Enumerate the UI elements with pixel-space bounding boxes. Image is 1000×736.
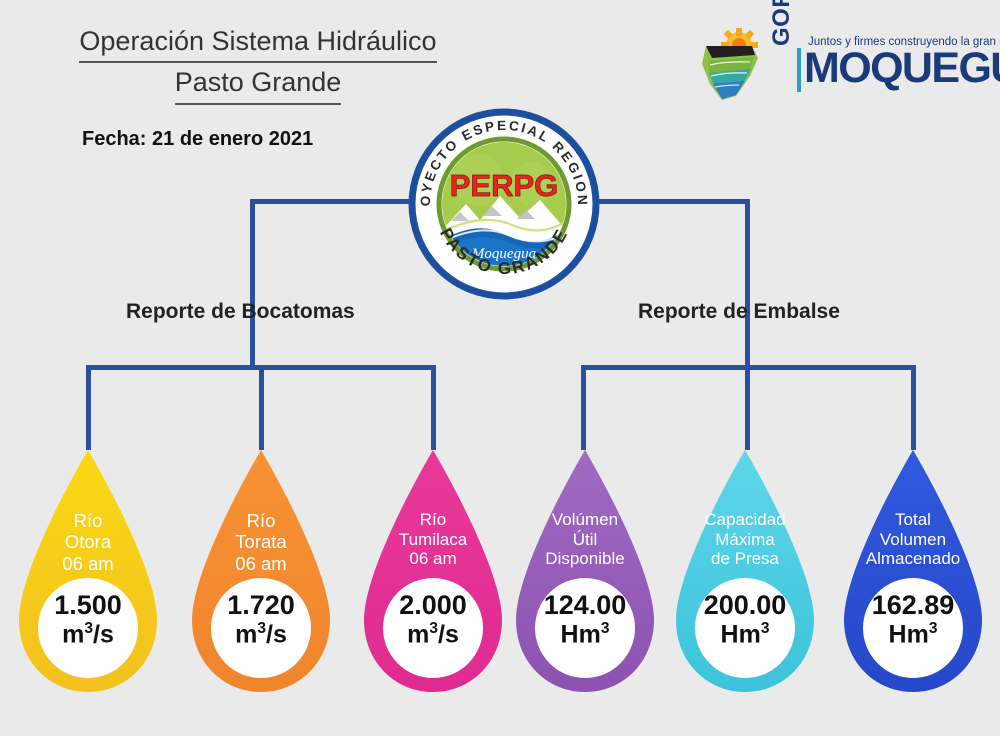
branch-heading-embalse: Reporte de Embalse	[638, 300, 840, 324]
infographic-canvas: Operación Sistema Hidráulico Pasto Grand…	[0, 0, 1000, 736]
connector-drop-4	[581, 365, 586, 450]
seal-acronym: PERPG	[450, 168, 559, 203]
report-date: Fecha: 21 de enero 2021	[82, 128, 313, 151]
title-line-1: Operación Sistema Hidráulico	[79, 22, 436, 63]
connector-left-stem	[250, 199, 255, 369]
connector-drop-2	[259, 365, 264, 450]
page-title: Operación Sistema Hidráulico Pasto Grand…	[48, 22, 468, 105]
droplet-volumen-util-disponible: VolúmenÚtilDisponible124.00Hm3	[510, 448, 660, 696]
droplet-capacidad-maxima-de-presa: CapacidadMáximade Presa200.00Hm3	[670, 448, 820, 696]
droplet-total-volumen-almacenado: TotalVolumenAlmacenado162.89Hm3	[838, 448, 988, 696]
droplet-value-disc-rio-tumilaca	[383, 578, 483, 678]
title-line-2: Pasto Grande	[175, 63, 342, 104]
droplet-rio-tumilaca: RíoTumilaca06 am2.000m3/s	[358, 448, 508, 696]
droplet-value-disc-capacidad-maxima-de-presa	[695, 578, 795, 678]
connector-right-stem	[745, 199, 750, 369]
connector-drop-6	[911, 365, 916, 450]
gore-moquegua-logo: GORE Juntos y firmes construyendo la gra…	[692, 18, 980, 104]
logo-divider-bar	[797, 48, 801, 92]
connector-drop-1	[86, 365, 91, 450]
droplet-value-disc-total-volumen-almacenado	[863, 578, 963, 678]
logo-wordmark: MOQUEGUA	[804, 47, 1000, 90]
droplet-rio-torata: RíoTorata06 am1.720m3/s	[186, 448, 336, 696]
droplet-value-disc-volumen-util-disponible	[535, 578, 635, 678]
moquegua-map-icon	[692, 28, 770, 102]
droplet-value-disc-rio-otora	[38, 578, 138, 678]
gore-vertical-text: GORE	[768, 0, 796, 46]
droplet-value-disc-rio-torata	[211, 578, 311, 678]
droplet-rio-otora: RíoOtora06 am1.500m3/s	[13, 448, 163, 696]
connector-drop-3	[431, 365, 436, 450]
perpg-seal-logo: Moquegua PERPG PROYECTO ESPECIAL REGIONA…	[408, 108, 600, 300]
branch-heading-bocatomas: Reporte de Bocatomas	[126, 300, 355, 324]
connector-drop-5	[745, 365, 750, 450]
